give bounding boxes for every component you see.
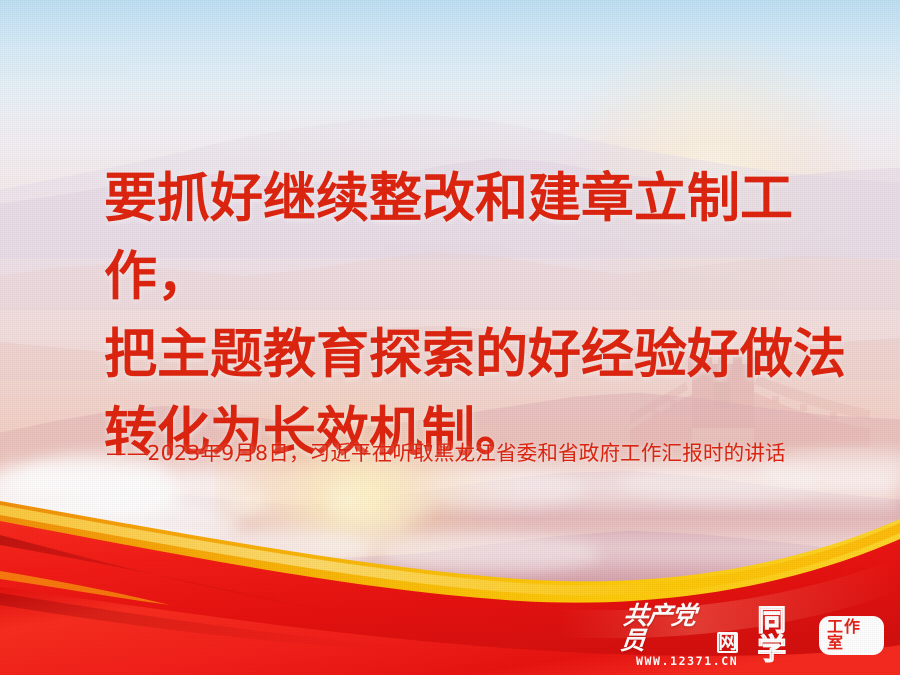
- studio-logo-block[interactable]: 同学 工作室: [757, 606, 884, 664]
- page-title: 要抓好继续整改和建章立制工作， 把主题教育探索的好经验好做法 转化为长效机制。: [104, 160, 874, 472]
- logo-url-text: WWW.12371.CN: [636, 656, 738, 668]
- logo-brand-row: 共产党员 网: [622, 603, 738, 653]
- studio-badge: 工作室: [819, 616, 884, 655]
- studio-name-text: 同学: [757, 606, 815, 664]
- logo-brand-calligraphy: 共产党员: [619, 603, 718, 653]
- logo-brand-block[interactable]: 共产党员 网 WWW.12371.CN: [622, 603, 738, 668]
- logo-divider: [747, 617, 748, 653]
- logo-brand-net-box: 网: [717, 632, 738, 653]
- site-logo[interactable]: 共产党员 网 WWW.12371.CN 同学 工作室: [622, 608, 884, 662]
- attribution-line: ——2023年9月8日，习近平在听取黑龙江省委和省政府工作汇报时的讲话: [106, 440, 866, 466]
- poster-canvas: 要抓好继续整改和建章立制工作， 把主题教育探索的好经验好做法 转化为长效机制。 …: [0, 0, 900, 675]
